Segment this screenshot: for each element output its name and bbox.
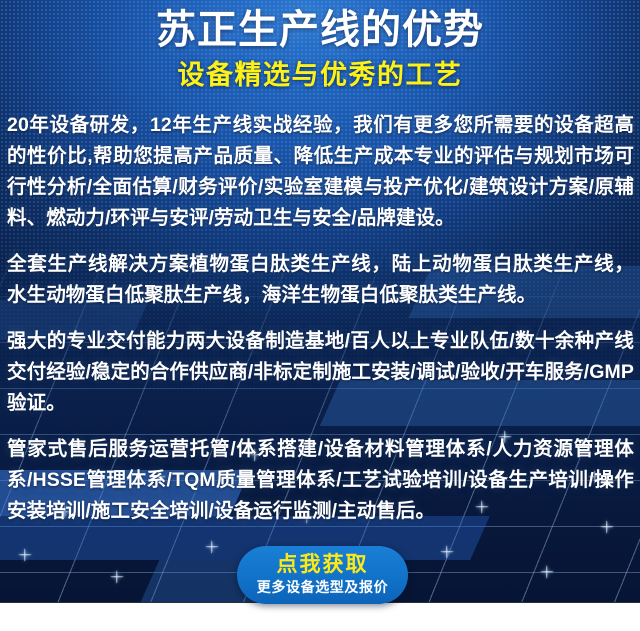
cta-sub-label: 更多设备选型及报价 <box>257 579 388 597</box>
paragraph-solutions: 全套生产线解决方案植物蛋白肽类生产线，陆上动物蛋白肽类生产线，水生动物蛋白低聚肽… <box>7 249 634 311</box>
page-subtitle: 设备精选与优秀的工艺 <box>0 60 640 91</box>
body-copy: 20年设备研发，12年生产线实战经验，我们有更多您所需要的设备超高的性价比,帮助… <box>7 110 634 527</box>
paragraph-delivery: 强大的专业交付能力两大设备制造基地/百人以上专业队伍/数十余种产线交付经验/稳定… <box>7 326 634 419</box>
promo-poster: 苏正生产线的优势 设备精选与优秀的工艺 20年设备研发，12年生产线实战经验，我… <box>0 0 640 631</box>
poster-content: 苏正生产线的优势 设备精选与优秀的工艺 20年设备研发，12年生产线实战经验，我… <box>0 0 640 631</box>
cta-main-label: 点我获取 <box>277 553 369 576</box>
page-title: 苏正生产线的优势 <box>0 8 640 53</box>
cta-button[interactable]: 点我获取 更多设备选型及报价 <box>237 546 408 604</box>
bottom-white-strip <box>0 602 640 631</box>
paragraph-service: 管家式售后服务运营托管/体系搭建/设备材料管理体系/人力资源管理体系/HSSE管… <box>7 434 634 527</box>
paragraph-intro: 20年设备研发，12年生产线实战经验，我们有更多您所需要的设备超高的性价比,帮助… <box>7 110 634 234</box>
